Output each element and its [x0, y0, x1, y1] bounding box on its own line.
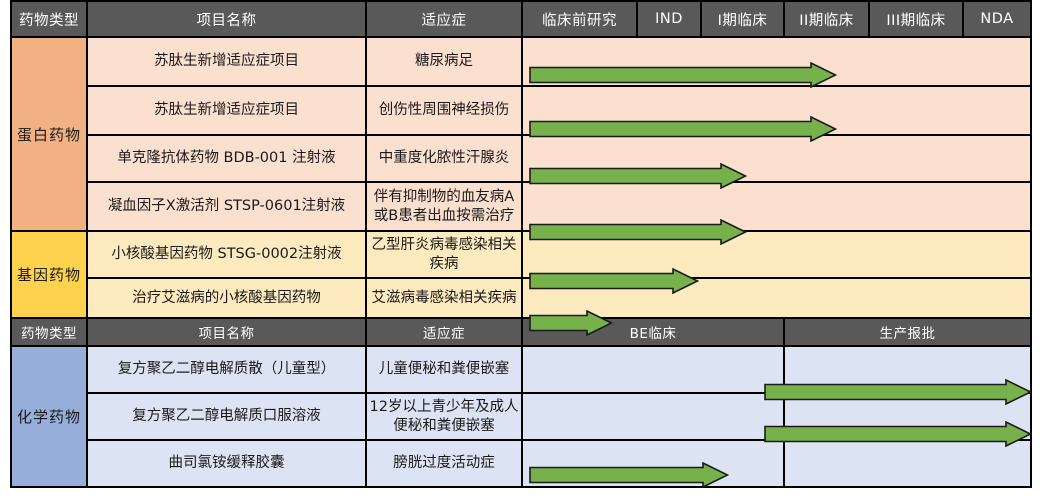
- indication-cell: 儿童便秘和粪便嵌塞: [366, 346, 522, 393]
- indication-cell: 乙型肝炎病毒感染相关疾病: [366, 231, 522, 278]
- project-name-cell: 凝血因子X激活剂 STSP-0601注射液: [87, 182, 366, 231]
- progress-track-be: [522, 440, 784, 487]
- header-row-chemicals: 药物类型 项目名称 适应症 BE临床 生产报批: [11, 318, 1031, 346]
- header-cell-indication-2: 适应症: [366, 318, 522, 346]
- header-cell-phase1: I期临床: [701, 1, 784, 37]
- header-cell-project-name: 项目名称: [87, 1, 366, 37]
- table-row: 复方聚乙二醇电解质口服溶液 12岁以上青少年及成人便秘和粪便嵌塞: [11, 393, 1031, 440]
- progress-track: [522, 37, 1031, 86]
- table-row: 蛋白药物 苏肽生新增适应症项目 糖尿病足: [11, 37, 1031, 86]
- indication-cell: 12岁以上青少年及成人便秘和粪便嵌塞: [366, 393, 522, 440]
- progress-track-approval: [784, 440, 1031, 487]
- header-cell-ind: IND: [637, 1, 701, 37]
- table-row: 单克隆抗体药物 BDB-001 注射液 中重度化脓性汗腺炎: [11, 135, 1031, 182]
- header-cell-phase3: III期临床: [869, 1, 963, 37]
- table-row: 曲司氯铵缓释胶囊 膀胱过度活动症: [11, 440, 1031, 487]
- progress-track: [522, 86, 1031, 135]
- header-cell-nda: NDA: [963, 1, 1031, 37]
- progress-track: [522, 135, 1031, 182]
- category-cell-chemical: 化学药物: [11, 346, 87, 487]
- pipeline-table: 药物类型 项目名称 适应症 临床前研究 IND I期临床 II期临床 III期临…: [10, 0, 1032, 488]
- indication-cell: 伴有抑制物的血友病A或B患者出血按需治疗: [366, 182, 522, 231]
- category-cell-gene: 基因药物: [11, 231, 87, 318]
- progress-track: [522, 231, 1031, 278]
- header-cell-drug-type: 药物类型: [11, 1, 87, 37]
- table-row: 凝血因子X激活剂 STSP-0601注射液 伴有抑制物的血友病A或B患者出血按需…: [11, 182, 1031, 231]
- header-cell-indication: 适应症: [366, 1, 522, 37]
- project-name-cell: 复方聚乙二醇电解质散（儿童型）: [87, 346, 366, 393]
- indication-cell: 膀胱过度活动症: [366, 440, 522, 487]
- table-row: 治疗艾滋病的小核酸基因药物 艾滋病毒感染相关疾病: [11, 278, 1031, 318]
- category-cell-protein: 蛋白药物: [11, 37, 87, 231]
- project-name-cell: 苏肽生新增适应症项目: [87, 86, 366, 135]
- progress-track-be: [522, 346, 784, 393]
- indication-cell: 创伤性周围神经损伤: [366, 86, 522, 135]
- progress-track-approval: [784, 393, 1031, 440]
- header-cell-preclinical: 临床前研究: [522, 1, 637, 37]
- header-cell-be-clinical: BE临床: [522, 318, 784, 346]
- header-cell-project-name-2: 项目名称: [87, 318, 366, 346]
- progress-track: [522, 278, 1031, 318]
- pipeline-chart: 药物类型 项目名称 适应症 临床前研究 IND I期临床 II期临床 III期临…: [0, 0, 1040, 499]
- indication-cell: 糖尿病足: [366, 37, 522, 86]
- header-cell-drug-type-2: 药物类型: [11, 318, 87, 346]
- project-name-cell: 曲司氯铵缓释胶囊: [87, 440, 366, 487]
- project-name-cell: 复方聚乙二醇电解质口服溶液: [87, 393, 366, 440]
- progress-track: [522, 182, 1031, 231]
- header-row-biologics: 药物类型 项目名称 适应症 临床前研究 IND I期临床 II期临床 III期临…: [11, 1, 1031, 37]
- progress-track-be: [522, 393, 784, 440]
- table-row: 苏肽生新增适应症项目 创伤性周围神经损伤: [11, 86, 1031, 135]
- header-cell-phase2: II期临床: [784, 1, 869, 37]
- indication-cell: 艾滋病毒感染相关疾病: [366, 278, 522, 318]
- header-cell-production-approval: 生产报批: [784, 318, 1031, 346]
- table-row: 化学药物 复方聚乙二醇电解质散（儿童型） 儿童便秘和粪便嵌塞: [11, 346, 1031, 393]
- progress-track-approval: [784, 346, 1031, 393]
- indication-cell: 中重度化脓性汗腺炎: [366, 135, 522, 182]
- project-name-cell: 治疗艾滋病的小核酸基因药物: [87, 278, 366, 318]
- project-name-cell: 苏肽生新增适应症项目: [87, 37, 366, 86]
- project-name-cell: 单克隆抗体药物 BDB-001 注射液: [87, 135, 366, 182]
- project-name-cell: 小核酸基因药物 STSG-0002注射液: [87, 231, 366, 278]
- table-row: 基因药物 小核酸基因药物 STSG-0002注射液 乙型肝炎病毒感染相关疾病: [11, 231, 1031, 278]
